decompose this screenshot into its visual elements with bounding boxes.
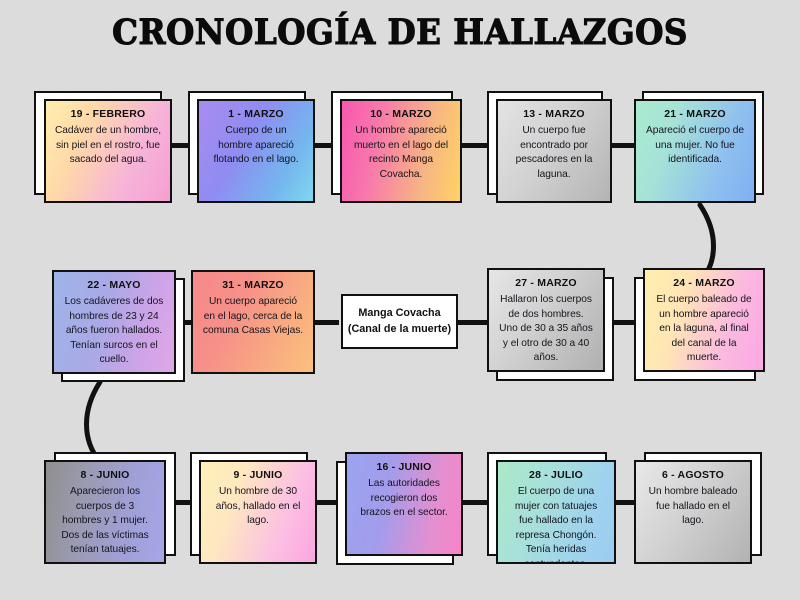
card-date: 1 - MARZO xyxy=(228,108,283,121)
connector-curve-left xyxy=(87,382,101,462)
card-text: Aparecieron los cuerpos de 3 hombres y 1… xyxy=(55,485,155,557)
connector-row2-c xyxy=(455,320,490,325)
card-body[interactable]: 10 - MARZO Un hombre apareció muerto en … xyxy=(340,99,462,203)
card-body[interactable]: 31 - MARZO Un cuerpo apareció en el lago… xyxy=(191,270,315,374)
center-node-line1: Manga Covacha xyxy=(358,306,440,321)
card-date: 13 - MARZO xyxy=(523,108,585,121)
card-text: Un cuerpo fue encontrado por pescadores … xyxy=(507,124,601,182)
page-title: CRONOLOGÍA DE HALLAZGOS xyxy=(28,12,772,53)
card-body[interactable]: 19 - FEBRERO Cadáver de un hombre, sin p… xyxy=(44,99,172,203)
card-1-marzo[interactable]: 1 - MARZO Cuerpo de un hombre apareció f… xyxy=(188,91,316,203)
card-13-marzo[interactable]: 13 - MARZO Un cuerpo fue encontrado por … xyxy=(487,91,613,203)
card-text: Cadáver de un hombre, sin piel en el ros… xyxy=(55,124,161,167)
card-date: 24 - MARZO xyxy=(673,277,735,290)
card-body[interactable]: 13 - MARZO Un cuerpo fue encontrado por … xyxy=(496,99,612,203)
card-text: El cuerpo de una mujer con tatuajes fue … xyxy=(507,485,605,564)
card-10-marzo[interactable]: 10 - MARZO Un hombre apareció muerto en … xyxy=(331,91,463,203)
card-date: 16 - JUNIO xyxy=(376,461,431,474)
card-text: Cuerpo de un hombre apareció flotando en… xyxy=(208,124,304,167)
card-body[interactable]: 16 - JUNIO Las autoridades recogieron do… xyxy=(345,452,463,556)
card-19-febrero[interactable]: 19 - FEBRERO Cadáver de un hombre, sin p… xyxy=(34,91,174,203)
card-date: 19 - FEBRERO xyxy=(71,108,146,121)
card-9-junio[interactable]: 9 - JUNIO Un hombre de 30 años, hallado … xyxy=(190,452,318,564)
card-text: El cuerpo baleado de un hombre apareció … xyxy=(654,293,754,365)
card-8-junio[interactable]: 8 - JUNIO Aparecieron los cuerpos de 3 h… xyxy=(44,452,178,564)
card-body[interactable]: 22 - MAYO Los cadáveres de dos hombres d… xyxy=(52,270,176,374)
card-body[interactable]: 1 - MARZO Cuerpo de un hombre apareció f… xyxy=(197,99,315,203)
card-text: Hallaron los cuerpos de dos hombres. Uno… xyxy=(498,293,594,365)
card-date: 22 - MAYO xyxy=(87,279,140,292)
card-27-marzo[interactable]: 27 - MARZO Hallaron los cuerpos de dos h… xyxy=(487,268,617,383)
card-body[interactable]: 9 - JUNIO Un hombre de 30 años, hallado … xyxy=(199,460,317,564)
card-31-marzo[interactable]: 31 - MARZO Un cuerpo apareció en el lago… xyxy=(191,270,317,380)
card-6-agosto[interactable]: 6 - AGOSTO Un hombre baleado fue hallado… xyxy=(634,452,764,566)
card-text: Los cadáveres de dos hombres de 23 y 24 … xyxy=(63,295,165,367)
card-text: Un hombre baleado fue hallado en el lago… xyxy=(645,485,741,528)
card-body[interactable]: 21 - MARZO Apareció el cuerpo de una muj… xyxy=(634,99,756,203)
infographic-canvas: CRONOLOGÍA DE HALLAZGOS Manga Covacha (C… xyxy=(0,0,800,600)
card-date: 9 - JUNIO xyxy=(233,469,282,482)
card-date: 28 - JULIO xyxy=(529,469,583,482)
card-date: 10 - MARZO xyxy=(370,108,432,121)
card-16-junio[interactable]: 16 - JUNIO Las autoridades recogieron do… xyxy=(336,452,466,566)
card-body[interactable]: 8 - JUNIO Aparecieron los cuerpos de 3 h… xyxy=(44,460,166,564)
card-date: 8 - JUNIO xyxy=(80,469,129,482)
card-body[interactable]: 6 - AGOSTO Un hombre baleado fue hallado… xyxy=(634,460,752,564)
card-body[interactable]: 28 - JULIO El cuerpo de una mujer con ta… xyxy=(496,460,616,564)
card-22-mayo[interactable]: 22 - MAYO Los cadáveres de dos hombres d… xyxy=(52,270,186,382)
card-text: Apareció el cuerpo de una mujer. No fue … xyxy=(645,124,745,167)
card-text: Un hombre de 30 años, hallado en el lago… xyxy=(210,485,306,528)
card-date: 31 - MARZO xyxy=(222,279,284,292)
card-date: 21 - MARZO xyxy=(664,108,726,121)
card-body[interactable]: 24 - MARZO El cuerpo baleado de un hombr… xyxy=(643,268,765,372)
card-text: Un hombre apareció muerto en el lago del… xyxy=(351,124,451,182)
card-28-julio[interactable]: 28 - JULIO El cuerpo de una mujer con ta… xyxy=(487,452,617,566)
card-text: Un cuerpo apareció en el lago, cerca de … xyxy=(202,295,304,338)
card-body[interactable]: 27 - MARZO Hallaron los cuerpos de dos h… xyxy=(487,268,605,372)
center-node-manga-covacha: Manga Covacha (Canal de la muerte) xyxy=(341,294,458,349)
card-date: 27 - MARZO xyxy=(515,277,577,290)
card-24-marzo[interactable]: 24 - MARZO El cuerpo baleado de un hombr… xyxy=(634,268,768,384)
card-text: Las autoridades recogieron dos brazos en… xyxy=(356,477,452,520)
card-date: 6 - AGOSTO xyxy=(662,469,724,482)
card-21-marzo[interactable]: 21 - MARZO Apareció el cuerpo de una muj… xyxy=(634,91,766,203)
center-node-line2: (Canal de la muerte) xyxy=(348,322,451,337)
